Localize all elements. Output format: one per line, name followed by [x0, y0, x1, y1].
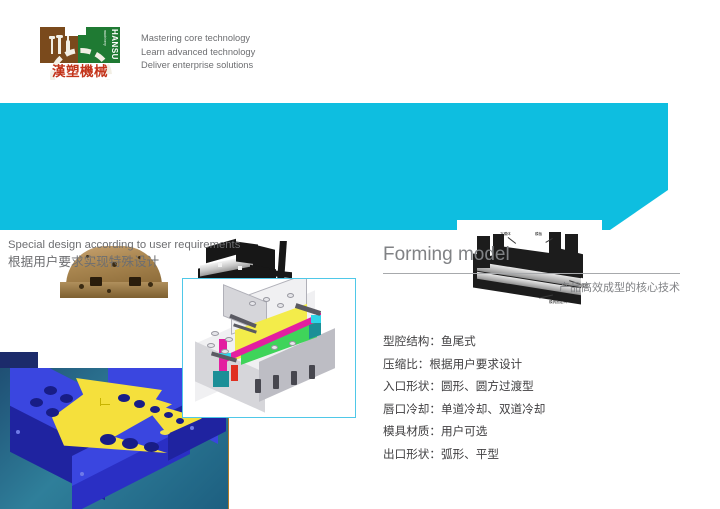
- logo-green-notch: [78, 27, 86, 35]
- spec-row: 型腔结构：鱼尾式: [383, 330, 683, 353]
- spec-row: 压缩比：根据用户要求设计: [383, 353, 683, 376]
- caption-english: Special design according to user require…: [8, 238, 348, 253]
- logo-brand-cn: 漢塑機械: [40, 65, 120, 80]
- inset-label-1: 下模体: [500, 232, 511, 236]
- logo-brand-en-sub: machinery: [98, 30, 106, 60]
- logo-brand-en: HANSU: [106, 29, 118, 61]
- left-caption: Special design according to user require…: [8, 238, 348, 270]
- page-subtitle: 产品高效成型的核心技术: [383, 281, 680, 295]
- inset-label-2: 模板: [535, 232, 542, 236]
- tagline-line-1: Mastering core technology: [141, 32, 255, 46]
- cad-color-die: [182, 278, 356, 418]
- tagline-line-2: Learn advanced technology: [141, 46, 255, 60]
- title-divider: [383, 273, 680, 274]
- company-tagline: Mastering core technology Learn advanced…: [141, 32, 255, 73]
- spec-row: 入口形状：圆形、圆方过渡型: [383, 375, 683, 398]
- page-header: HANSU machinery 漢塑機械 Mastering core tech…: [0, 0, 720, 103]
- spec-list: 型腔结构：鱼尾式 压缩比：根据用户要求设计 入口形状：圆形、圆方过渡型 唇口冷却…: [383, 330, 683, 465]
- spec-row: 模具材质：用户可选: [383, 420, 683, 443]
- tagline-line-3: Deliver enterprise solutions: [141, 59, 255, 73]
- page-title: Forming model: [383, 243, 683, 267]
- hero-banner-photos: 下模体 模板 模座 模具固定口: [0, 103, 720, 230]
- section-title-block: Forming model 产品高效成型的核心技术: [383, 243, 683, 295]
- spec-row: 唇口冷却：单道冷却、双道冷却: [383, 398, 683, 421]
- company-logo[interactable]: HANSU machinery 漢塑機械: [40, 27, 120, 80]
- inset-label-4: 模具固定口: [549, 300, 567, 304]
- logo-mark-icon: HANSU machinery: [40, 27, 120, 63]
- caption-chinese: 根据用户要求实现特殊设计: [8, 254, 348, 270]
- spec-row: 出口形状：弧形、平型: [383, 443, 683, 466]
